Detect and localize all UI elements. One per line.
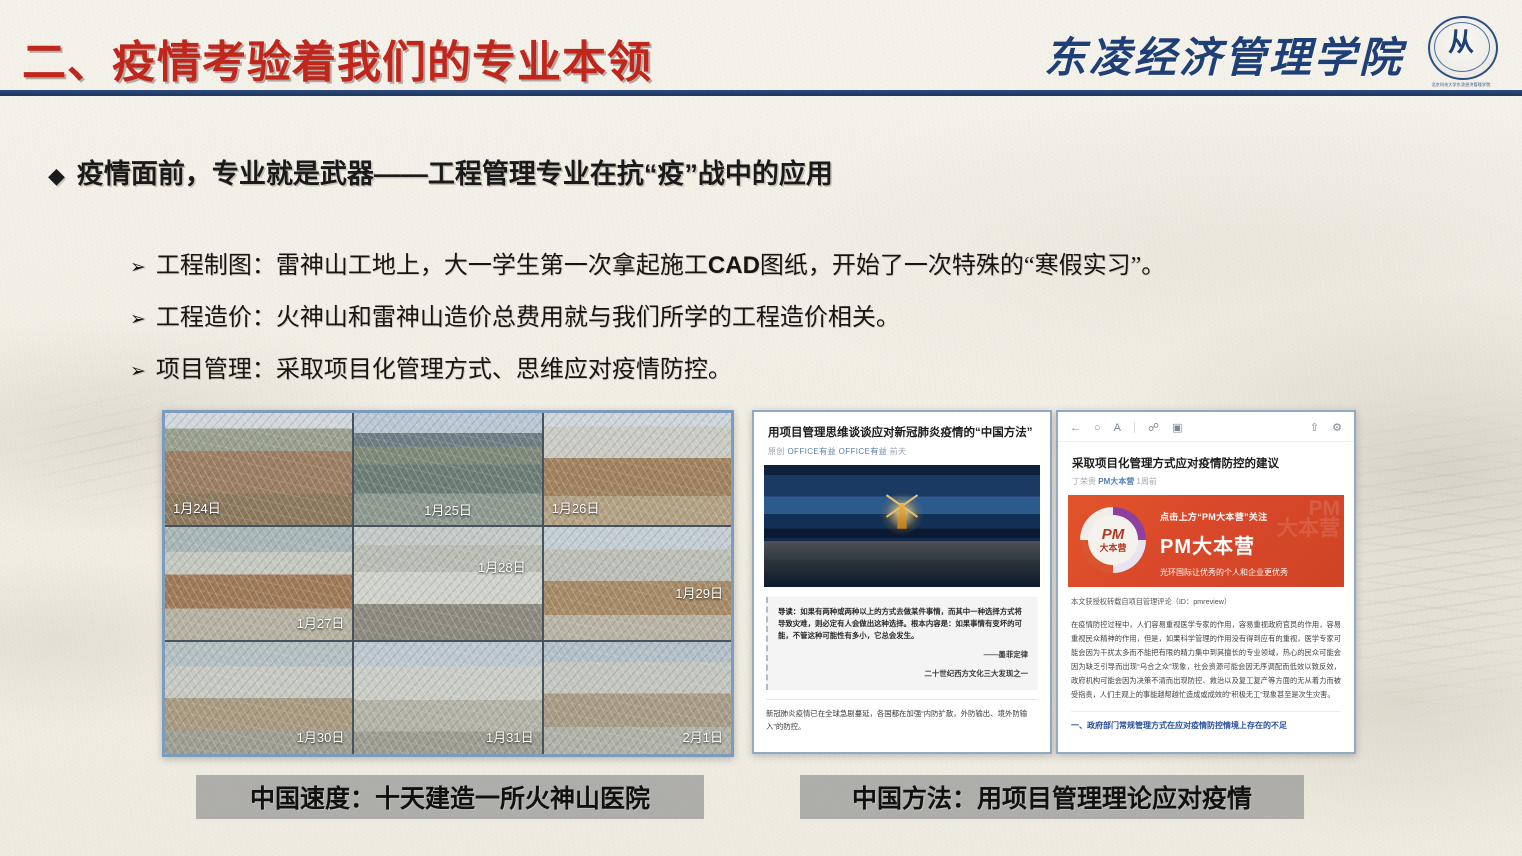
sub-bullet-3-text: 采取项目化管理方式、思维应对疫情防控。 bbox=[276, 357, 732, 383]
byline-account: OFFICE有益 bbox=[839, 447, 888, 456]
pm-banner: PM 大本营 PM 大本营 点击上方“PM大本营”关注 PM大本营 光环国际让优… bbox=[1068, 495, 1344, 587]
caption-left: 中国速度：十天建造一所火神山医院 bbox=[196, 775, 704, 819]
article-body: 新冠肺炎疫情已在全球急剧蔓延，各国都在加强“内防扩散，外防输出、境外防输入”的防… bbox=[766, 699, 1038, 734]
banner-slogan: 光环国际让优秀的个人和企业更优秀 bbox=[1160, 567, 1288, 578]
quote-attribution: ——墨菲定律 bbox=[778, 649, 1028, 661]
sub-bullet-1-label: 工程制图： bbox=[156, 253, 276, 279]
header-divider bbox=[0, 90, 1522, 96]
photo-date-label: 1月27日 bbox=[297, 613, 345, 632]
photo-date-label: 1月29日 bbox=[675, 583, 723, 602]
logo-mark: 从 bbox=[1422, 30, 1500, 56]
sub-bullet-3: ➢项目管理：采取项目化管理方式、思维应对疫情防控。 bbox=[130, 349, 732, 384]
arrow-bullet-icon: ➢ bbox=[130, 360, 146, 383]
photo-cell: 1月26日 bbox=[544, 413, 731, 525]
photo-cell: 1月25日 bbox=[354, 413, 541, 525]
home-icon[interactable]: ○ bbox=[1094, 422, 1101, 434]
pm-logo-icon: PM 大本营 bbox=[1080, 507, 1146, 573]
pm-logo-line2: 大本营 bbox=[1099, 544, 1126, 553]
diamond-bullet-icon: ◆ bbox=[48, 163, 65, 188]
quote-label: 导读： bbox=[778, 607, 800, 616]
pm-logo-inner: PM 大本营 bbox=[1088, 515, 1138, 565]
photo-cell: 1月24日 bbox=[165, 413, 352, 525]
pm-logo-line1: PM bbox=[1102, 527, 1125, 542]
photo-cell: 1月30日 bbox=[165, 642, 352, 754]
water-reflection bbox=[764, 541, 1040, 587]
share-icon[interactable]: ⇧ bbox=[1310, 421, 1319, 434]
institution-name: 东凌经济管理学院 bbox=[1044, 24, 1404, 85]
photo-date-label: 2月1日 bbox=[683, 727, 723, 746]
quote-attribution-sub: 二十世纪西方文化三大发现之一 bbox=[778, 668, 1028, 680]
toolbar-divider bbox=[1134, 422, 1135, 433]
link-icon[interactable]: ☍ bbox=[1148, 421, 1159, 434]
banner-account-name: PM大本营 bbox=[1160, 530, 1288, 559]
article-body: 在疫情防控过程中，人们容易重视医学专家的作用，容易重视政府官员的作用，容易重视民… bbox=[1071, 618, 1341, 702]
article-card-middle: 用项目管理思维谈谈应对新冠肺炎疫情的“中国方法” 原创 OFFICE有益 OFF… bbox=[752, 410, 1052, 754]
article-hero-image bbox=[764, 465, 1040, 587]
logo-caption: 北京科技大学东凌经济管理学院 bbox=[1422, 82, 1500, 88]
photo-cell: 1月28日 bbox=[354, 527, 541, 639]
byline-account: PM大本营 bbox=[1098, 477, 1134, 486]
sub-bullet-2-label: 工程造价： bbox=[156, 305, 276, 331]
caption-right: 中国方法：用项目管理理论应对疫情 bbox=[800, 775, 1304, 819]
sub-bullet-2-text: 火神山和雷神山造价总费用就与我们所学的工程造价相关。 bbox=[276, 305, 900, 331]
article-title: 用项目管理思维谈谈应对新冠肺炎疫情的“中国方法” bbox=[768, 426, 1036, 442]
browser-toolbar: ← ○ A ☍ ▣ ⇧ ⚙ bbox=[1058, 412, 1354, 442]
photo-date-label: 1月24日 bbox=[173, 498, 221, 517]
article-card-right: ← ○ A ☍ ▣ ⇧ ⚙ 采取项目化管理方式应对疫情防控的建议 丁荣贵 PM大… bbox=[1056, 410, 1356, 754]
sub-bullet-1: ➢工程制图：雷神山工地上，大一学生第一次拿起施工CAD图纸，开始了一次特殊的“寒… bbox=[130, 245, 1165, 280]
photo-cell: 2月1日 bbox=[544, 642, 731, 754]
byline-author: OFFICE有益 bbox=[787, 447, 836, 456]
photo-date-label: 1月26日 bbox=[552, 498, 600, 517]
photo-date-label: 1月28日 bbox=[478, 557, 526, 576]
page-title: 二、疫情考验着我们的专业本领 bbox=[22, 26, 652, 90]
sub-bullet-2: ➢工程造价：火神山和雷神山造价总费用就与我们所学的工程造价相关。 bbox=[130, 297, 900, 332]
photo-date-label: 1月30日 bbox=[297, 727, 345, 746]
photo-date-label: 1月31日 bbox=[486, 727, 534, 746]
quote-text: 如果有两种或两种以上的方式去做某件事情，而其中一种选择方式将导致灾难，则必定有人… bbox=[778, 607, 1022, 640]
article-source: 本文获授权转载自项目管理评论（ID：pmreview） bbox=[1071, 597, 1341, 607]
photo-cell: 1月29日 bbox=[544, 527, 731, 639]
photo-date-label: 1月25日 bbox=[424, 500, 472, 519]
photo-cell: 1月31日 bbox=[354, 642, 541, 754]
font-size-icon[interactable]: A bbox=[1114, 422, 1121, 434]
bookmark-icon[interactable]: ▣ bbox=[1172, 421, 1182, 434]
lead-bullet-text: 疫情面前，专业就是武器——工程管理专业在抗“疫”战中的应用 bbox=[77, 159, 833, 189]
arrow-bullet-icon: ➢ bbox=[130, 308, 146, 331]
article-section-heading: 一、政府部门常规管理方式在应对疫情防控情境上存在的不足 bbox=[1071, 711, 1341, 731]
construction-photo-grid: 1月24日 1月25日 1月26日 1月27日 1月28日 1月29日 1月30… bbox=[162, 410, 734, 757]
lead-bullet: ◆疫情面前，专业就是武器——工程管理专业在抗“疫”战中的应用 bbox=[48, 152, 833, 191]
slide: 二、疫情考验着我们的专业本领 东凌经济管理学院 从 北京科技大学东凌经济管理学院… bbox=[0, 0, 1522, 856]
sub-bullet-1-text-before: 雷神山工地上，大一学生第一次拿起施工 bbox=[276, 253, 708, 279]
banner-follow-text: 点击上方“PM大本营”关注 bbox=[1160, 510, 1288, 523]
byline-time: 前天 bbox=[890, 447, 907, 456]
sub-bullet-3-label: 项目管理： bbox=[156, 357, 276, 383]
sub-bullet-1-text-after: 图纸，开始了一次特殊的“寒假实习”。 bbox=[760, 253, 1165, 279]
byline-author: 丁荣贵 bbox=[1072, 477, 1096, 486]
byline-time: 1周前 bbox=[1136, 477, 1156, 486]
banner-text: 点击上方“PM大本营”关注 PM大本营 光环国际让优秀的个人和企业更优秀 bbox=[1160, 510, 1288, 578]
sub-bullet-1-emph: CAD bbox=[708, 252, 760, 279]
more-icon[interactable]: ⚙ bbox=[1332, 421, 1342, 434]
institution-logo: 从 北京科技大学东凌经济管理学院 bbox=[1422, 16, 1500, 88]
byline-origin: 原创 bbox=[768, 447, 785, 456]
back-arrow-icon[interactable]: ← bbox=[1070, 422, 1081, 434]
photo-cell: 1月27日 bbox=[165, 527, 352, 639]
article-byline: 原创 OFFICE有益 OFFICE有益 前天 bbox=[768, 446, 1036, 457]
arrow-bullet-icon: ➢ bbox=[130, 256, 146, 279]
article-quote-box: 导读：如果有两种或两种以上的方式去做某件事情，而其中一种选择方式将导致灾难，则必… bbox=[766, 597, 1038, 690]
article-title: 采取项目化管理方式应对疫情防控的建议 bbox=[1072, 455, 1340, 471]
article-byline: 丁荣贵 PM大本营 1周前 bbox=[1072, 476, 1340, 487]
